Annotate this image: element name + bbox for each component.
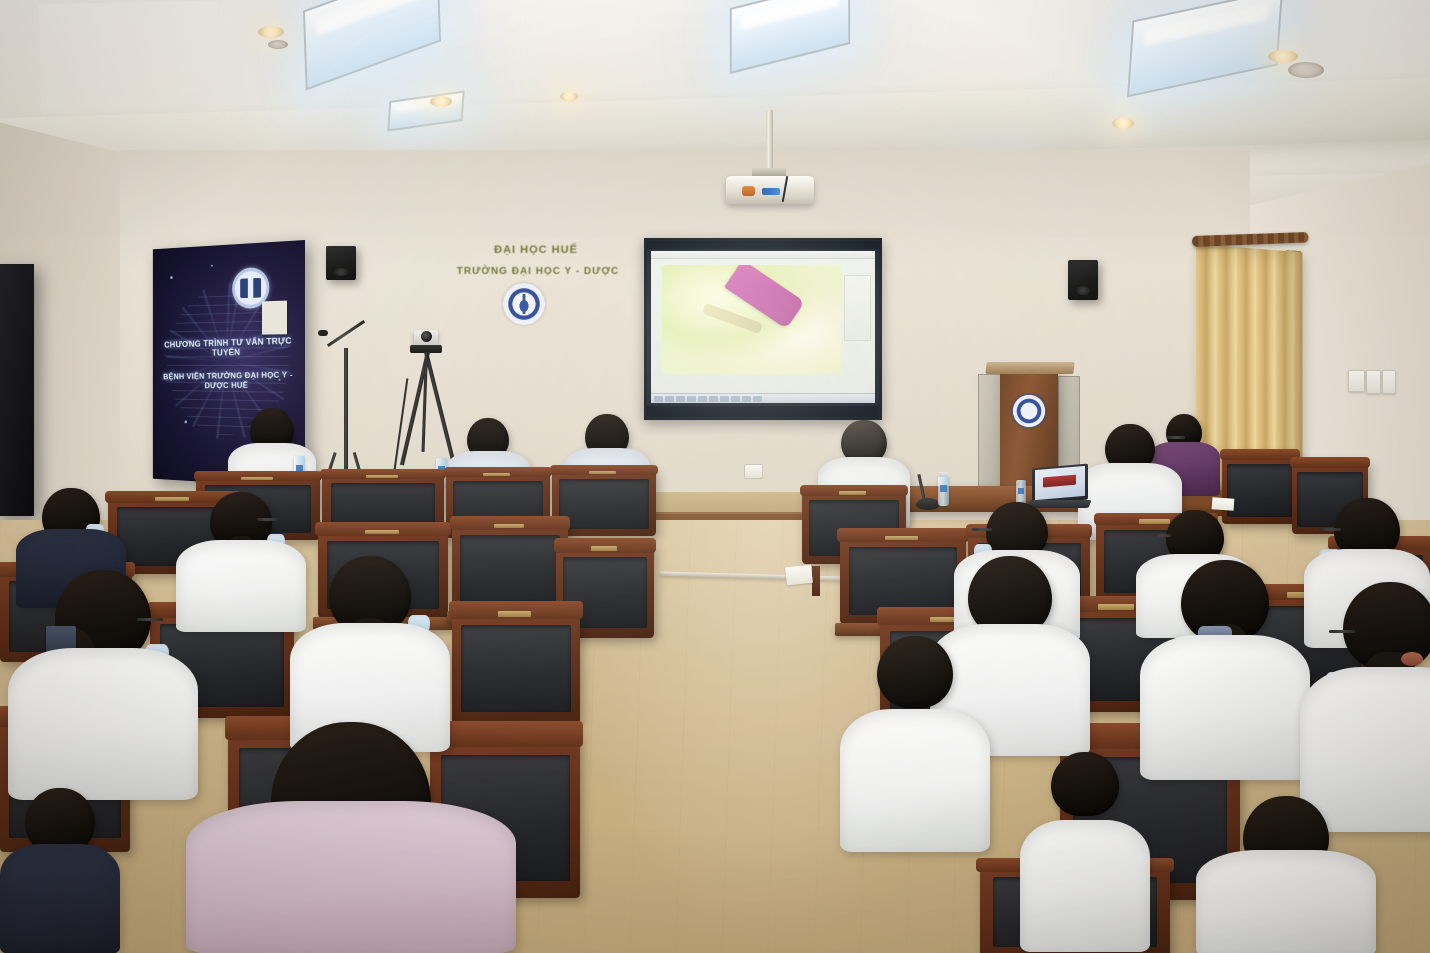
eyeglasses (137, 618, 163, 621)
audience-member (1020, 752, 1150, 952)
projection-screen (644, 238, 882, 420)
microphone-stand-pole (344, 348, 348, 472)
audience-member (1300, 582, 1430, 832)
university-emblem (503, 283, 545, 325)
chair-number-plate (1098, 604, 1134, 610)
screen-top-bar (647, 241, 879, 249)
microphone-capsule (318, 330, 328, 336)
person-head (877, 636, 953, 708)
person-torso (1196, 850, 1376, 953)
camera-lens (421, 331, 432, 342)
person-head (1051, 752, 1119, 816)
posted-notice-paper (262, 300, 288, 335)
taskbar-item (753, 396, 762, 402)
podium-top-surface (985, 362, 1074, 374)
person-torso (1020, 820, 1150, 952)
chair-leg (812, 566, 819, 596)
light-switch-plate[interactable] (1366, 370, 1381, 394)
equipment-rack (978, 374, 1002, 490)
eyeglasses (1329, 630, 1355, 633)
taskbar-item (687, 396, 696, 402)
person-torso (1140, 635, 1310, 780)
ceiling-vent (268, 40, 288, 49)
chair[interactable] (452, 520, 568, 612)
screen-bottom-bar (647, 406, 879, 417)
presentation-window-titlebar (651, 251, 875, 259)
chair-number-plate (589, 471, 616, 474)
audience-member (8, 570, 198, 800)
banner-star (170, 276, 173, 279)
eyeglasses (1319, 528, 1341, 531)
floor-speaker (0, 264, 34, 516)
podium-university-seal (1012, 394, 1046, 428)
audience-member (1140, 560, 1310, 780)
taskbar-item (665, 396, 674, 402)
taskbar-item (731, 396, 740, 402)
wall-outlet (744, 464, 763, 479)
chair-number-plate (839, 491, 866, 495)
person-torso (0, 844, 120, 953)
wall-sign-line2: TRƯỜNG ĐẠI HỌC Y - DƯỢC (448, 266, 628, 277)
laptop-lid[interactable] (1032, 464, 1088, 505)
ceiling-downlight (1112, 118, 1134, 129)
chair-number-plate (366, 475, 398, 478)
chair-number-plate (494, 524, 524, 529)
chair-top-rail (1220, 449, 1299, 460)
ceiling-downlight (560, 92, 578, 101)
taskbar-item (709, 396, 718, 402)
ceiling-downlight (430, 96, 452, 107)
projector-mount-pole (766, 110, 773, 172)
desk-microphone-base (916, 498, 940, 510)
chair-number-plate (365, 530, 399, 535)
taskbar-item (676, 396, 685, 402)
paper-sheet (785, 565, 813, 586)
projector-lens (742, 186, 755, 196)
screen-display-area (651, 251, 875, 403)
wall-sign-line1: ĐẠI HỌC HUẾ (466, 244, 606, 256)
banner-subheadline: BỆNH VIỆN TRƯỜNG ĐẠI HỌC Y - DƯỢC HUẾ (153, 370, 305, 391)
laptop-slide-content (1043, 475, 1076, 488)
banner-star (211, 265, 213, 267)
chair-number-plate (483, 473, 510, 476)
taskbar-item (742, 396, 751, 402)
audience-member (1196, 796, 1376, 953)
chair[interactable] (452, 606, 580, 724)
chair-number-plate (885, 536, 918, 541)
audience-member (0, 788, 120, 953)
laptop-screen (1035, 466, 1085, 501)
video-secondary-graphic (702, 303, 763, 334)
screen-taskbar (651, 393, 875, 403)
eyeglasses (1153, 534, 1171, 537)
eyeglasses (972, 528, 992, 531)
ceiling-downlight (1268, 50, 1298, 63)
thermostat-panel[interactable] (1348, 370, 1365, 392)
wall-speaker-right (1068, 260, 1098, 300)
ceiling-vent (1288, 62, 1324, 78)
eyeglasses (257, 518, 277, 521)
taskbar-item (654, 396, 663, 402)
taskbar-item (698, 396, 707, 402)
presentation-video-frame (662, 265, 841, 374)
person-torso (8, 648, 198, 800)
paper-sheet (1212, 497, 1235, 511)
ceiling-downlight (258, 26, 284, 38)
chair-number-plate (591, 546, 616, 551)
banner-star (184, 420, 187, 423)
wall-speaker-left (326, 246, 356, 280)
chair-back-pad (460, 535, 560, 603)
water-bottle (938, 476, 949, 506)
bottle-cap (939, 472, 948, 477)
chair-number-plate (241, 477, 273, 480)
chair-top-rail (1290, 457, 1369, 468)
presentation-side-panel (844, 275, 871, 341)
audience-member (840, 636, 990, 852)
chair-back-pad (461, 625, 571, 712)
chair-back-pad (1227, 464, 1292, 517)
chair-back-pad (559, 479, 648, 529)
person-torso (840, 709, 990, 852)
taskbar-item (720, 396, 729, 402)
hair-tie (1401, 652, 1423, 666)
chair-number-plate (498, 611, 531, 617)
light-switch-plate[interactable] (1382, 370, 1396, 394)
conference-hall-photo: ĐẠI HỌC HUẾ TRƯỜNG ĐẠI HỌC Y - DƯỢC CHƯƠ… (0, 0, 1430, 953)
person-torso (186, 801, 516, 953)
audience-member (186, 722, 516, 953)
projector-indicator (762, 188, 780, 195)
